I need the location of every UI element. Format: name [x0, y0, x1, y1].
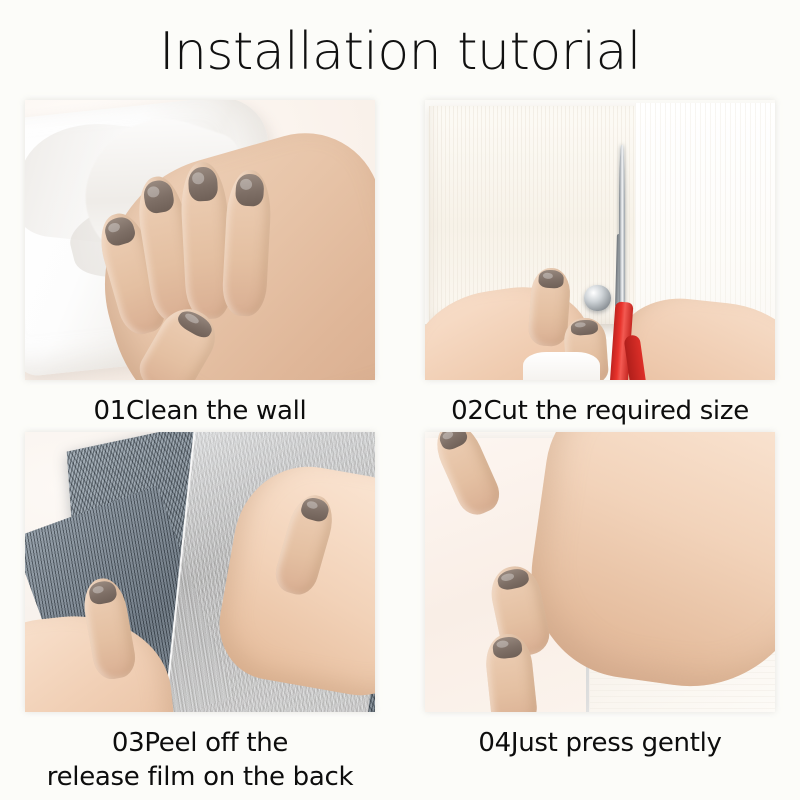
step-photo-clean-the-wall — [25, 100, 375, 380]
step-caption-01-line-1: 01Clean the wall — [0, 394, 400, 428]
fingernail-icon — [538, 270, 564, 289]
fingernail-icon — [570, 320, 598, 337]
step-photo-press-gently — [425, 432, 775, 712]
fingernail-icon — [187, 166, 218, 202]
fingernail-icon — [102, 214, 137, 248]
step-caption-03: 03Peel off the release film on the back — [0, 712, 400, 794]
step-card-01: 01Clean the wall — [0, 96, 400, 428]
step-card-04: 04Just press gently — [400, 428, 800, 794]
fingernail-icon — [495, 567, 530, 593]
panel-offcut — [523, 352, 600, 380]
step-caption-02-line-1: 02Cut the required size — [400, 394, 800, 428]
fingernail-icon — [437, 432, 470, 452]
fingernail-icon — [142, 179, 176, 215]
step-photo-peel-release-film — [25, 432, 375, 712]
step-card-03: 03Peel off the release film on the back — [0, 428, 400, 794]
step-caption-02: 02Cut the required size — [400, 380, 800, 428]
scissors-pivot-icon — [584, 285, 610, 312]
steps-grid: 01Clean the wall 02Cut — [0, 96, 800, 794]
step-caption-04-line-1: 04Just press gently — [400, 726, 800, 760]
fingernail-icon — [88, 579, 118, 606]
step-card-02: 02Cut the required size — [400, 96, 800, 428]
wall-panel-right — [635, 103, 775, 327]
fingernail-icon — [492, 635, 523, 659]
step-row-1: 01Clean the wall 02Cut — [0, 96, 800, 428]
fingernail-icon — [234, 174, 264, 207]
step-caption-04: 04Just press gently — [400, 712, 800, 760]
step-caption-01: 01Clean the wall — [0, 380, 400, 428]
step-row-2: 03Peel off the release film on the back … — [0, 428, 800, 794]
step-photo-cut-the-required-size — [425, 100, 775, 380]
step-caption-03-line-1: 03Peel off the — [0, 726, 400, 760]
scissors-blade-icon — [619, 145, 625, 307]
page-title: Installation tutorial — [0, 0, 800, 78]
step-caption-03-line-2: release film on the back — [0, 760, 400, 794]
